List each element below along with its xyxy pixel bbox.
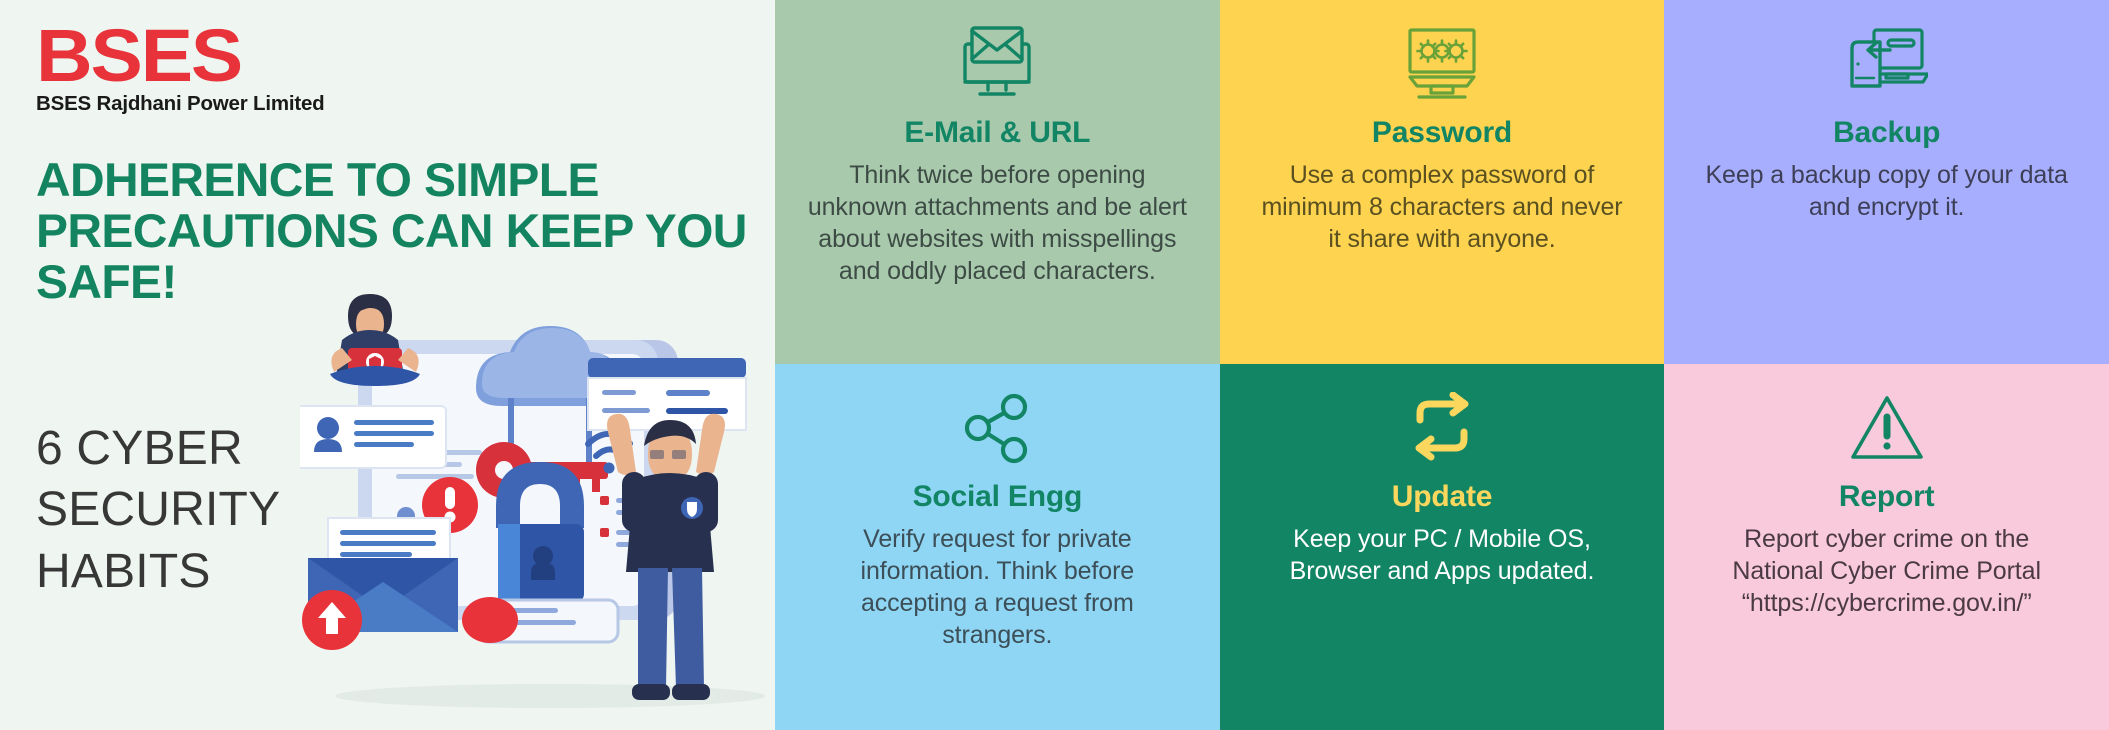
card-title: E-Mail & URL (904, 116, 1090, 149)
share-nodes-icon (961, 382, 1033, 474)
card-body: Use a complex password of minimum 8 char… (1252, 159, 1632, 255)
card-body: Keep your PC / Mobile OS, Browser and Ap… (1252, 523, 1632, 587)
cyber-security-illustration (300, 228, 770, 728)
card-body: Report cyber crime on the National Cyber… (1697, 523, 2077, 619)
card-title: Update (1392, 480, 1492, 513)
bses-logo: BSES BSES Rajdhani Power Limited (36, 22, 366, 116)
monitor-envelope-icon (958, 18, 1036, 110)
tips-grid: E-Mail & URL Think twice before opening … (775, 0, 2109, 730)
card-title: Social Engg (913, 480, 1083, 513)
card-body: Think twice before opening unknown attac… (807, 159, 1187, 287)
card-email-url[interactable]: E-Mail & URL Think twice before opening … (775, 0, 1220, 364)
card-social-engg[interactable]: Social Engg Verify request for private i… (775, 364, 1220, 730)
refresh-arrows-icon (1405, 382, 1479, 474)
infographic-poster: BSES BSES Rajdhani Power Limited ADHEREN… (0, 0, 2109, 730)
card-title: Password (1372, 116, 1512, 149)
card-report[interactable]: Report Report cyber crime on the Nationa… (1664, 364, 2109, 730)
card-body: Verify request for private information. … (807, 523, 1187, 651)
left-panel: BSES BSES Rajdhani Power Limited ADHEREN… (0, 0, 775, 730)
warning-triangle-icon (1849, 382, 1925, 474)
logo-wordmark: BSES (36, 22, 386, 90)
card-update[interactable]: Update Keep your PC / Mobile OS, Browser… (1220, 364, 1665, 730)
card-title: Backup (1833, 116, 1940, 149)
monitor-gears-icon (1403, 18, 1481, 110)
card-backup[interactable]: Backup Keep a backup copy of your data a… (1664, 0, 2109, 364)
card-password[interactable]: Password Use a complex password of minim… (1220, 0, 1665, 364)
card-body: Keep a backup copy of your data and encr… (1697, 159, 2077, 223)
laptop-harddrive-icon (1846, 18, 1928, 110)
card-title: Report (1839, 480, 1934, 513)
